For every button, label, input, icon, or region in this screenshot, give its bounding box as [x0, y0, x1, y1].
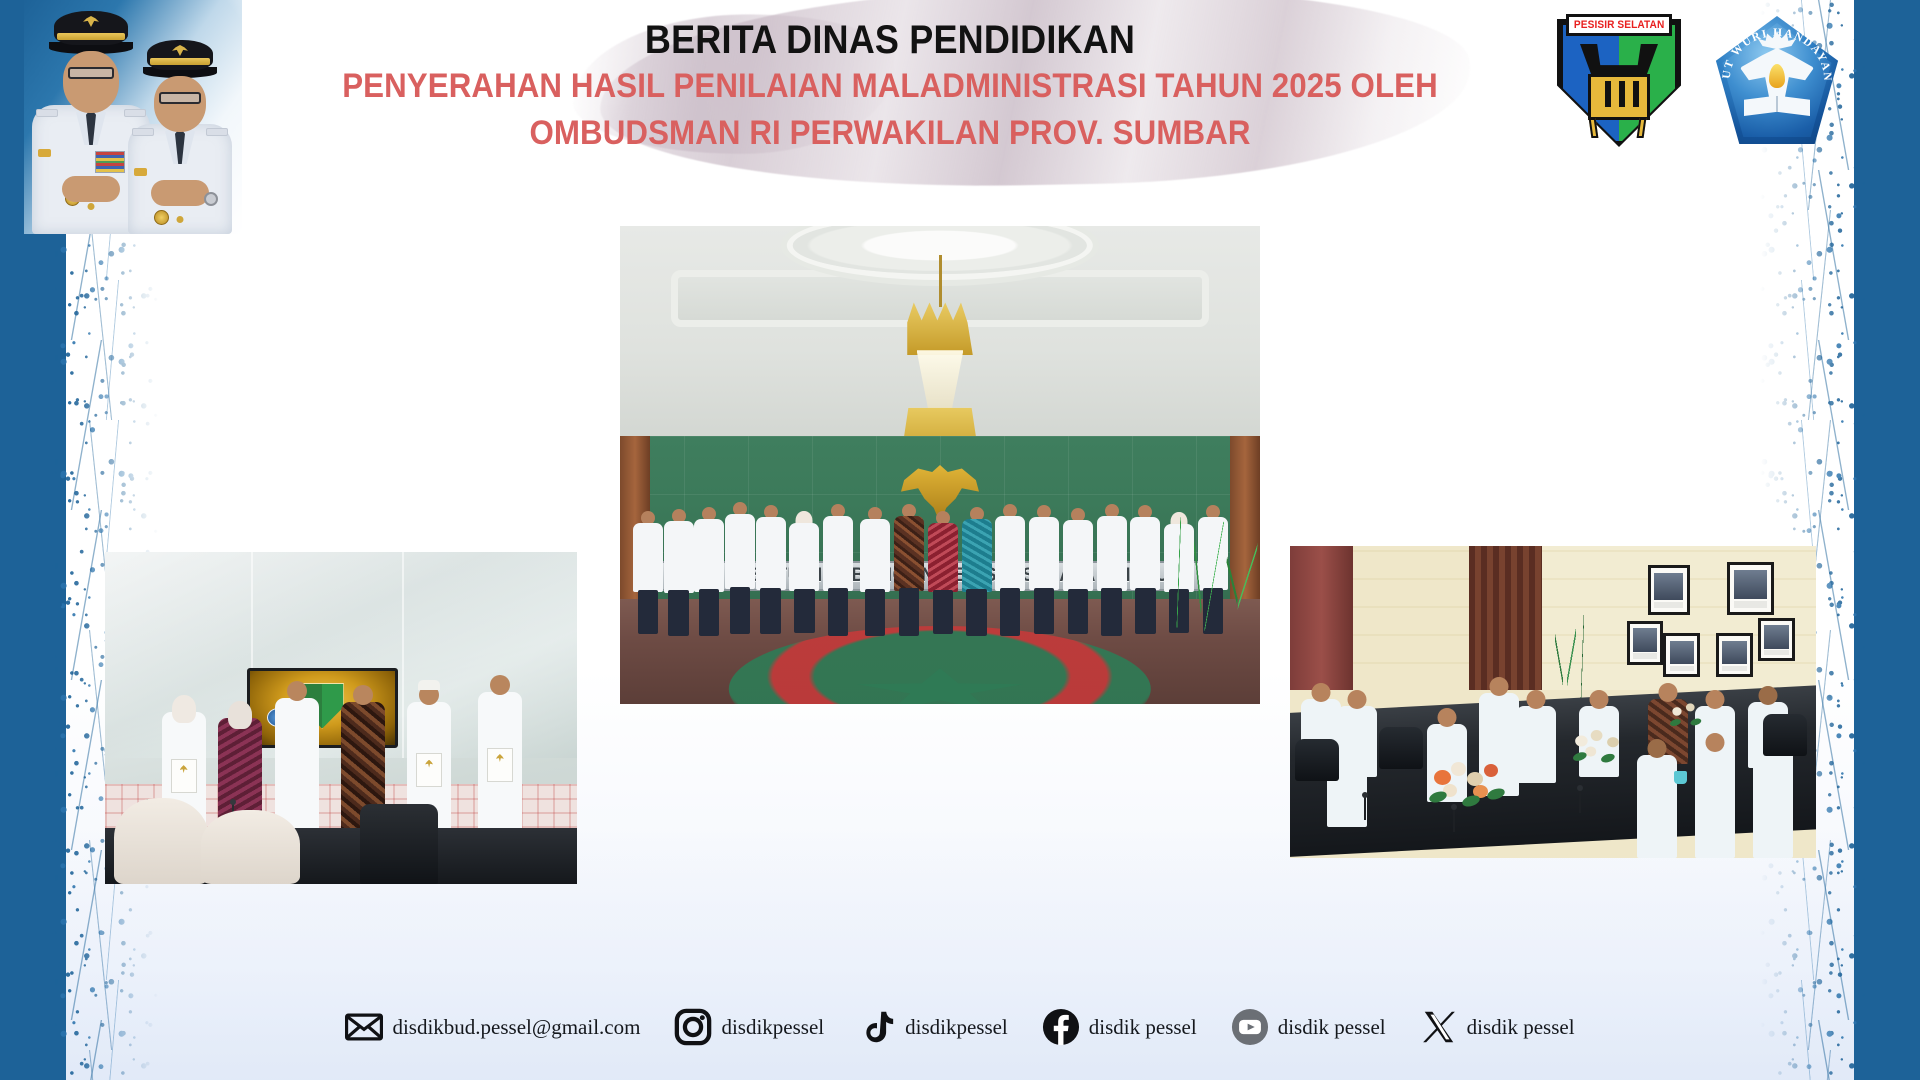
hall-person [962, 507, 992, 636]
chandelier-body [917, 350, 964, 417]
regent-peaked-cap [54, 11, 128, 45]
vice-regent-hands [151, 180, 209, 206]
hall-person [1029, 505, 1059, 634]
flower-bouquet [1568, 727, 1640, 769]
hall-person [928, 511, 958, 634]
table-microphone [1579, 789, 1581, 813]
meeting-chair [1379, 727, 1423, 769]
wall-portrait-frame [1627, 621, 1664, 665]
logo-group: PESISIR SELATAN TUT WURI HANDAYANI [1550, 8, 1848, 148]
rumah-gadang-icon [1588, 74, 1650, 120]
hall-person [894, 504, 924, 636]
footer-item-youtube[interactable]: disdik pessel [1231, 1008, 1386, 1046]
vice-regent-face [154, 76, 206, 132]
regent-service-ribbons [95, 151, 125, 173]
wall-portrait-frame [1663, 633, 1700, 677]
drinking-cup [1674, 771, 1687, 784]
regent-glasses [68, 67, 114, 79]
foreground-person [201, 810, 301, 884]
instagram-icon [674, 1008, 712, 1046]
officials-portrait [24, 0, 242, 234]
footer-item-facebook[interactable]: disdik pessel [1042, 1008, 1197, 1046]
footer-item-instagram[interactable]: disdikpessel [674, 1008, 824, 1046]
table-microphone [1453, 808, 1455, 832]
rumah-slat-1 [1605, 81, 1611, 107]
facebook-icon [1042, 1008, 1080, 1046]
regent-hands [62, 176, 120, 202]
rumah-leg-right [1637, 118, 1647, 138]
foreground-person [114, 798, 210, 884]
vice-regent-uniform [128, 124, 232, 234]
poster-canvas: BERITA DINAS PENDIDIKAN PENYERAHAN HASIL… [0, 0, 1920, 1080]
flower-bouquet [1427, 758, 1519, 812]
certificate-handover-photo [105, 552, 577, 884]
tutwuri-flame-icon [1769, 64, 1785, 88]
hall-person [1130, 505, 1160, 634]
vice-regent-wristwatch [204, 192, 218, 206]
footer-label-youtube: disdik pessel [1278, 1015, 1386, 1040]
hall-person [860, 507, 890, 636]
chandelier-crown [907, 302, 973, 355]
social-media-footer: disdikbud.pessel@gmail.com disdikpessel … [0, 992, 1920, 1062]
meeting-attendee [1337, 690, 1377, 777]
flower-bouquet [1665, 700, 1722, 733]
meeting-attendee [1516, 690, 1556, 784]
header-text-block: BERITA DINAS PENDIDIKAN PENYERAHAN HASIL… [230, 18, 1550, 157]
footer-label-instagram: disdikpessel [721, 1015, 824, 1040]
table-microphone [1364, 796, 1366, 820]
hall-person [725, 502, 755, 634]
meeting-room-photo [1290, 546, 1816, 858]
hall-person [664, 509, 694, 635]
vice-regent-epaulette-right [206, 128, 228, 136]
x-twitter-icon [1420, 1008, 1458, 1046]
right-border-drips [1784, 0, 1880, 1080]
vice-regent-epaulette-left [132, 128, 154, 136]
tiktok-icon [858, 1008, 896, 1046]
rumah-leg-left [1589, 118, 1599, 138]
footer-item-x-twitter[interactable]: disdik pessel [1420, 1008, 1575, 1046]
vice-regent-button-2 [177, 216, 184, 223]
meeting-wood-panel-center [1469, 546, 1543, 690]
meeting-chair [1763, 714, 1807, 756]
page-title: BERITA DINAS PENDIDIKAN [296, 18, 1484, 63]
meeting-wood-panel-left [1290, 546, 1353, 690]
vice-regent-medal [154, 210, 169, 225]
regent-name-badge [38, 149, 51, 157]
hall-person [633, 511, 663, 634]
regent-face [63, 51, 119, 113]
meeting-wallpaper-left [1353, 546, 1469, 690]
hall-person [789, 511, 819, 633]
palm-decoration-icon [1162, 517, 1260, 636]
handover-person [478, 675, 522, 841]
pesisir-selatan-logo-icon: PESISIR SELATAN [1550, 8, 1688, 148]
right-border-solid [1854, 0, 1920, 1080]
office-chair [360, 804, 438, 884]
wall-portrait-frame [1716, 633, 1753, 677]
vice-regent-name-badge [134, 168, 147, 176]
page-subtitle-line-1: PENYERAHAN HASIL PENILAIAN MALADMINISTRA… [283, 63, 1497, 110]
footer-label-email: disdikbud.pessel@gmail.com [392, 1015, 640, 1040]
footer-item-email[interactable]: disdikbud.pessel@gmail.com [345, 1008, 640, 1046]
footer-label-tiktok: disdikpessel [905, 1015, 1008, 1040]
meeting-chair [1295, 739, 1339, 781]
hall-person [995, 504, 1025, 636]
hall-person [694, 507, 724, 636]
rumah-slat-3 [1633, 81, 1639, 107]
right-grunge-border [1770, 0, 1920, 1080]
tut-wuri-handayani-logo-icon: TUT WURI HANDAYANI [1706, 8, 1848, 148]
shield-name-text: PESISIR SELATAN [1574, 19, 1664, 31]
footer-label-facebook: disdik pessel [1089, 1015, 1197, 1040]
page-subtitle-line-2: OMBUDSMAN RI PERWAKILAN PROV. SUMBAR [283, 110, 1497, 157]
regent-button-2 [88, 203, 95, 210]
wall-portrait-frame [1648, 565, 1690, 615]
wall-portrait-frame [1758, 618, 1795, 662]
chandelier-rod [939, 255, 942, 308]
rumah-slat-2 [1619, 81, 1625, 107]
official-vice-regent [128, 38, 232, 234]
right-border-speckle [1760, 0, 1868, 1080]
vice-regent-peaked-cap [147, 40, 213, 70]
rumah-gadang-legs [1586, 118, 1652, 138]
meeting-attendee [1479, 677, 1519, 758]
handover-foreground-attendees [105, 764, 322, 884]
footer-label-x-twitter: disdik pessel [1467, 1015, 1575, 1040]
hall-person [1063, 508, 1093, 634]
hall-person [1097, 504, 1127, 636]
page-subtitle: PENYERAHAN HASIL PENILAIAN MALADMINISTRA… [283, 63, 1497, 157]
footer-item-tiktok[interactable]: disdikpessel [858, 1008, 1008, 1046]
hall-person [756, 505, 786, 634]
youtube-icon [1231, 1008, 1269, 1046]
hall-crowd [633, 494, 1247, 637]
regent-epaulette-left [36, 109, 58, 117]
group-photo-hall: BERSATU MEMBANGUN PESISIR SELATAN MAJU [620, 226, 1260, 704]
hall-person [823, 504, 853, 636]
vice-regent-glasses [159, 92, 201, 104]
meeting-attendee [1695, 733, 1735, 858]
shield-name-band: PESISIR SELATAN [1566, 14, 1672, 36]
email-icon [345, 1008, 383, 1046]
wall-portrait-frame [1727, 562, 1774, 615]
meeting-attendee [1637, 739, 1677, 858]
